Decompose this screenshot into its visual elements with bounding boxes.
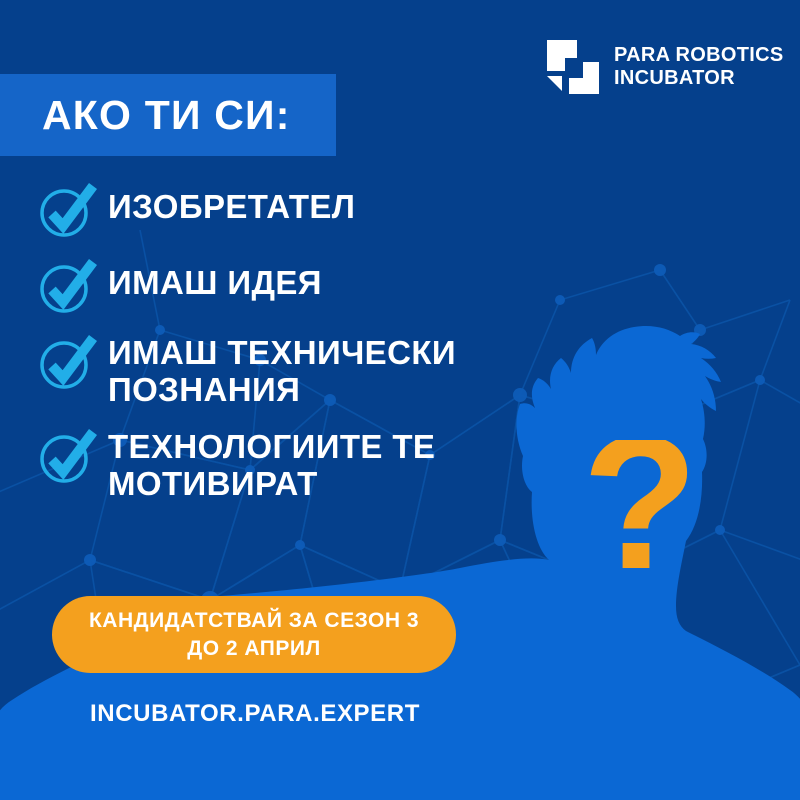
question-mark-icon: ? <box>585 440 695 620</box>
list-item: ИМАШ ТЕХНИЧЕСКИ ПОЗНАНИЯ <box>38 333 558 409</box>
para-robotics-logo-mark <box>545 38 601 96</box>
list-item-label: ТЕХНОЛОГИИТЕ ТЕ МОТИВИРАТ <box>108 427 558 503</box>
promo-poster: ? PARA ROBOTICS INCUBATOR АКО ТИ СИ: ИЗО… <box>0 0 800 800</box>
svg-text:?: ? <box>585 440 695 609</box>
list-item: ТЕХНОЛОГИИТЕ ТЕ МОТИВИРАТ <box>38 427 558 503</box>
brand-logo-line1: PARA ROBOTICS <box>614 44 783 67</box>
brand-logo-text: PARA ROBOTICS INCUBATOR <box>614 44 783 90</box>
brand-logo: PARA ROBOTICS INCUBATOR <box>545 38 783 96</box>
list-item-label: ИМАШ ТЕХНИЧЕСКИ ПОЗНАНИЯ <box>108 333 558 409</box>
list-item-label: ИМАШ ИДЕЯ <box>108 257 322 301</box>
headline-text: АКО ТИ СИ: <box>42 92 291 139</box>
list-item-label: ИЗОБРЕТАТЕЛ <box>108 181 355 225</box>
website-url[interactable]: INCUBATOR.PARA.EXPERT <box>90 700 420 728</box>
list-item: ИМАШ ИДЕЯ <box>38 257 558 315</box>
cta-line2: ДО 2 АПРИЛ <box>187 635 320 663</box>
brand-logo-line2: INCUBATOR <box>614 67 783 90</box>
check-circle-icon <box>38 335 98 391</box>
cta-line1: КАНДИДАТСТВАЙ ЗА СЕЗОН 3 <box>89 607 419 635</box>
checklist: ИЗОБРЕТАТЕЛ ИМАШ ИДЕЯ ИМАШ ТЕХНИЧЕСКИ ПО… <box>38 181 558 520</box>
headline-banner: АКО ТИ СИ: <box>0 74 336 156</box>
list-item: ИЗОБРЕТАТЕЛ <box>38 181 558 239</box>
apply-cta-button[interactable]: КАНДИДАТСТВАЙ ЗА СЕЗОН 3 ДО 2 АПРИЛ <box>52 596 456 673</box>
check-circle-icon <box>38 183 98 239</box>
check-circle-icon <box>38 259 98 315</box>
check-circle-icon <box>38 429 98 485</box>
